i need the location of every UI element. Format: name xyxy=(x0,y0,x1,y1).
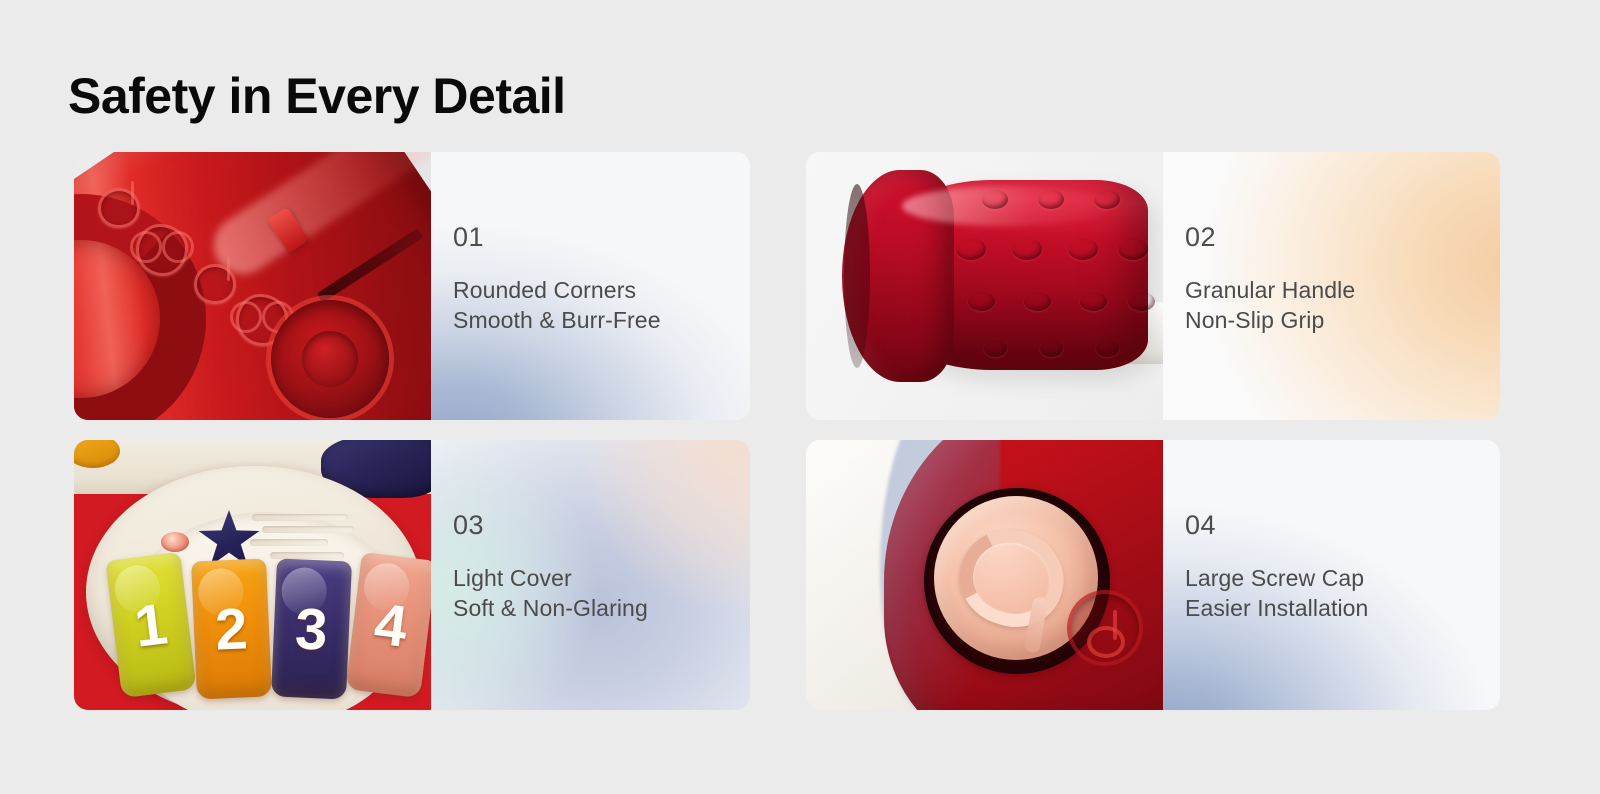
card-text-panel-02: 02 Granular Handle Non-Slip Grip xyxy=(1163,152,1500,420)
grip-bump xyxy=(1040,340,1063,357)
number-key-row[interactable]: 1234 xyxy=(114,554,428,698)
embossed-music-note-icon xyxy=(98,188,140,228)
grip-bump xyxy=(1118,238,1148,260)
grip-bump xyxy=(1094,190,1120,209)
grip-bump xyxy=(1068,238,1098,260)
card-text-panel-01: 01 Rounded Corners Smooth & Burr-Free xyxy=(431,152,750,420)
grip-bump xyxy=(1128,292,1155,311)
keypad-oval-housing: 1234 xyxy=(86,466,422,710)
embossed-music-note-icon xyxy=(194,264,236,304)
grip-bump xyxy=(1096,340,1119,357)
feature-card-grid: 01 Rounded Corners Smooth & Burr-Free 02… xyxy=(74,152,1500,710)
indicator-led xyxy=(161,532,189,552)
card-image-granular-handle xyxy=(806,152,1163,420)
number-key-2[interactable]: 2 xyxy=(191,558,272,699)
grip-bump xyxy=(984,340,1007,357)
round-dial xyxy=(271,300,389,418)
embossed-flower-icon xyxy=(136,224,188,276)
grip-bump xyxy=(1024,292,1051,311)
card-number: 04 xyxy=(1185,512,1500,539)
card-text-panel-04: 04 Large Screw Cap Easier Installation xyxy=(1163,440,1500,710)
embossed-music-note-icon xyxy=(1067,590,1143,666)
card-title-line-2: Easier Installation xyxy=(1185,593,1500,623)
grille-bar xyxy=(250,539,328,546)
card-number: 02 xyxy=(1185,224,1500,251)
card-title-line-2: Soft & Non-Glaring xyxy=(453,593,750,623)
card-image-screw-cap xyxy=(806,440,1163,710)
grip-bump xyxy=(1038,190,1064,209)
feature-card-04[interactable]: 04 Large Screw Cap Easier Installation xyxy=(806,440,1500,710)
card-image-light-cover: 1234 xyxy=(74,440,431,710)
card-title-line-1: Granular Handle xyxy=(1185,275,1500,305)
grip-bump xyxy=(968,292,995,311)
handle-gloss-highlight xyxy=(902,186,1114,226)
feature-card-01[interactable]: 01 Rounded Corners Smooth & Burr-Free xyxy=(74,152,750,420)
card-image-rounded-corners xyxy=(74,152,431,420)
card-title-line-2: Smooth & Burr-Free xyxy=(453,305,750,335)
card-title-line-1: Large Screw Cap xyxy=(1185,563,1500,593)
feature-card-02[interactable]: 02 Granular Handle Non-Slip Grip xyxy=(806,152,1500,420)
feature-card-03[interactable]: 1234 03 Light Cover Soft & Non-Glaring xyxy=(74,440,750,710)
card-number: 03 xyxy=(453,512,750,539)
card-title-line-1: Rounded Corners xyxy=(453,275,750,305)
card-text-panel-03: 03 Light Cover Soft & Non-Glaring xyxy=(431,440,750,710)
grille-bar xyxy=(262,526,354,533)
grip-bump xyxy=(956,238,986,260)
page-title: Safety in Every Detail xyxy=(68,68,566,126)
feature-detail-page: Safety in Every Detail 01 Rounded Co xyxy=(0,0,1600,794)
number-key-1[interactable]: 1 xyxy=(105,552,196,698)
number-key-3[interactable]: 3 xyxy=(271,558,352,699)
card-number: 01 xyxy=(453,224,750,251)
grille-bar xyxy=(252,514,348,521)
cap-swirl-detail xyxy=(948,516,1077,639)
grip-bump xyxy=(1012,238,1042,260)
card-title-line-2: Non-Slip Grip xyxy=(1185,305,1500,335)
card-title-line-1: Light Cover xyxy=(453,563,750,593)
grip-bump xyxy=(982,190,1008,209)
number-key-4[interactable]: 4 xyxy=(346,552,431,698)
grip-bump xyxy=(1080,292,1107,311)
